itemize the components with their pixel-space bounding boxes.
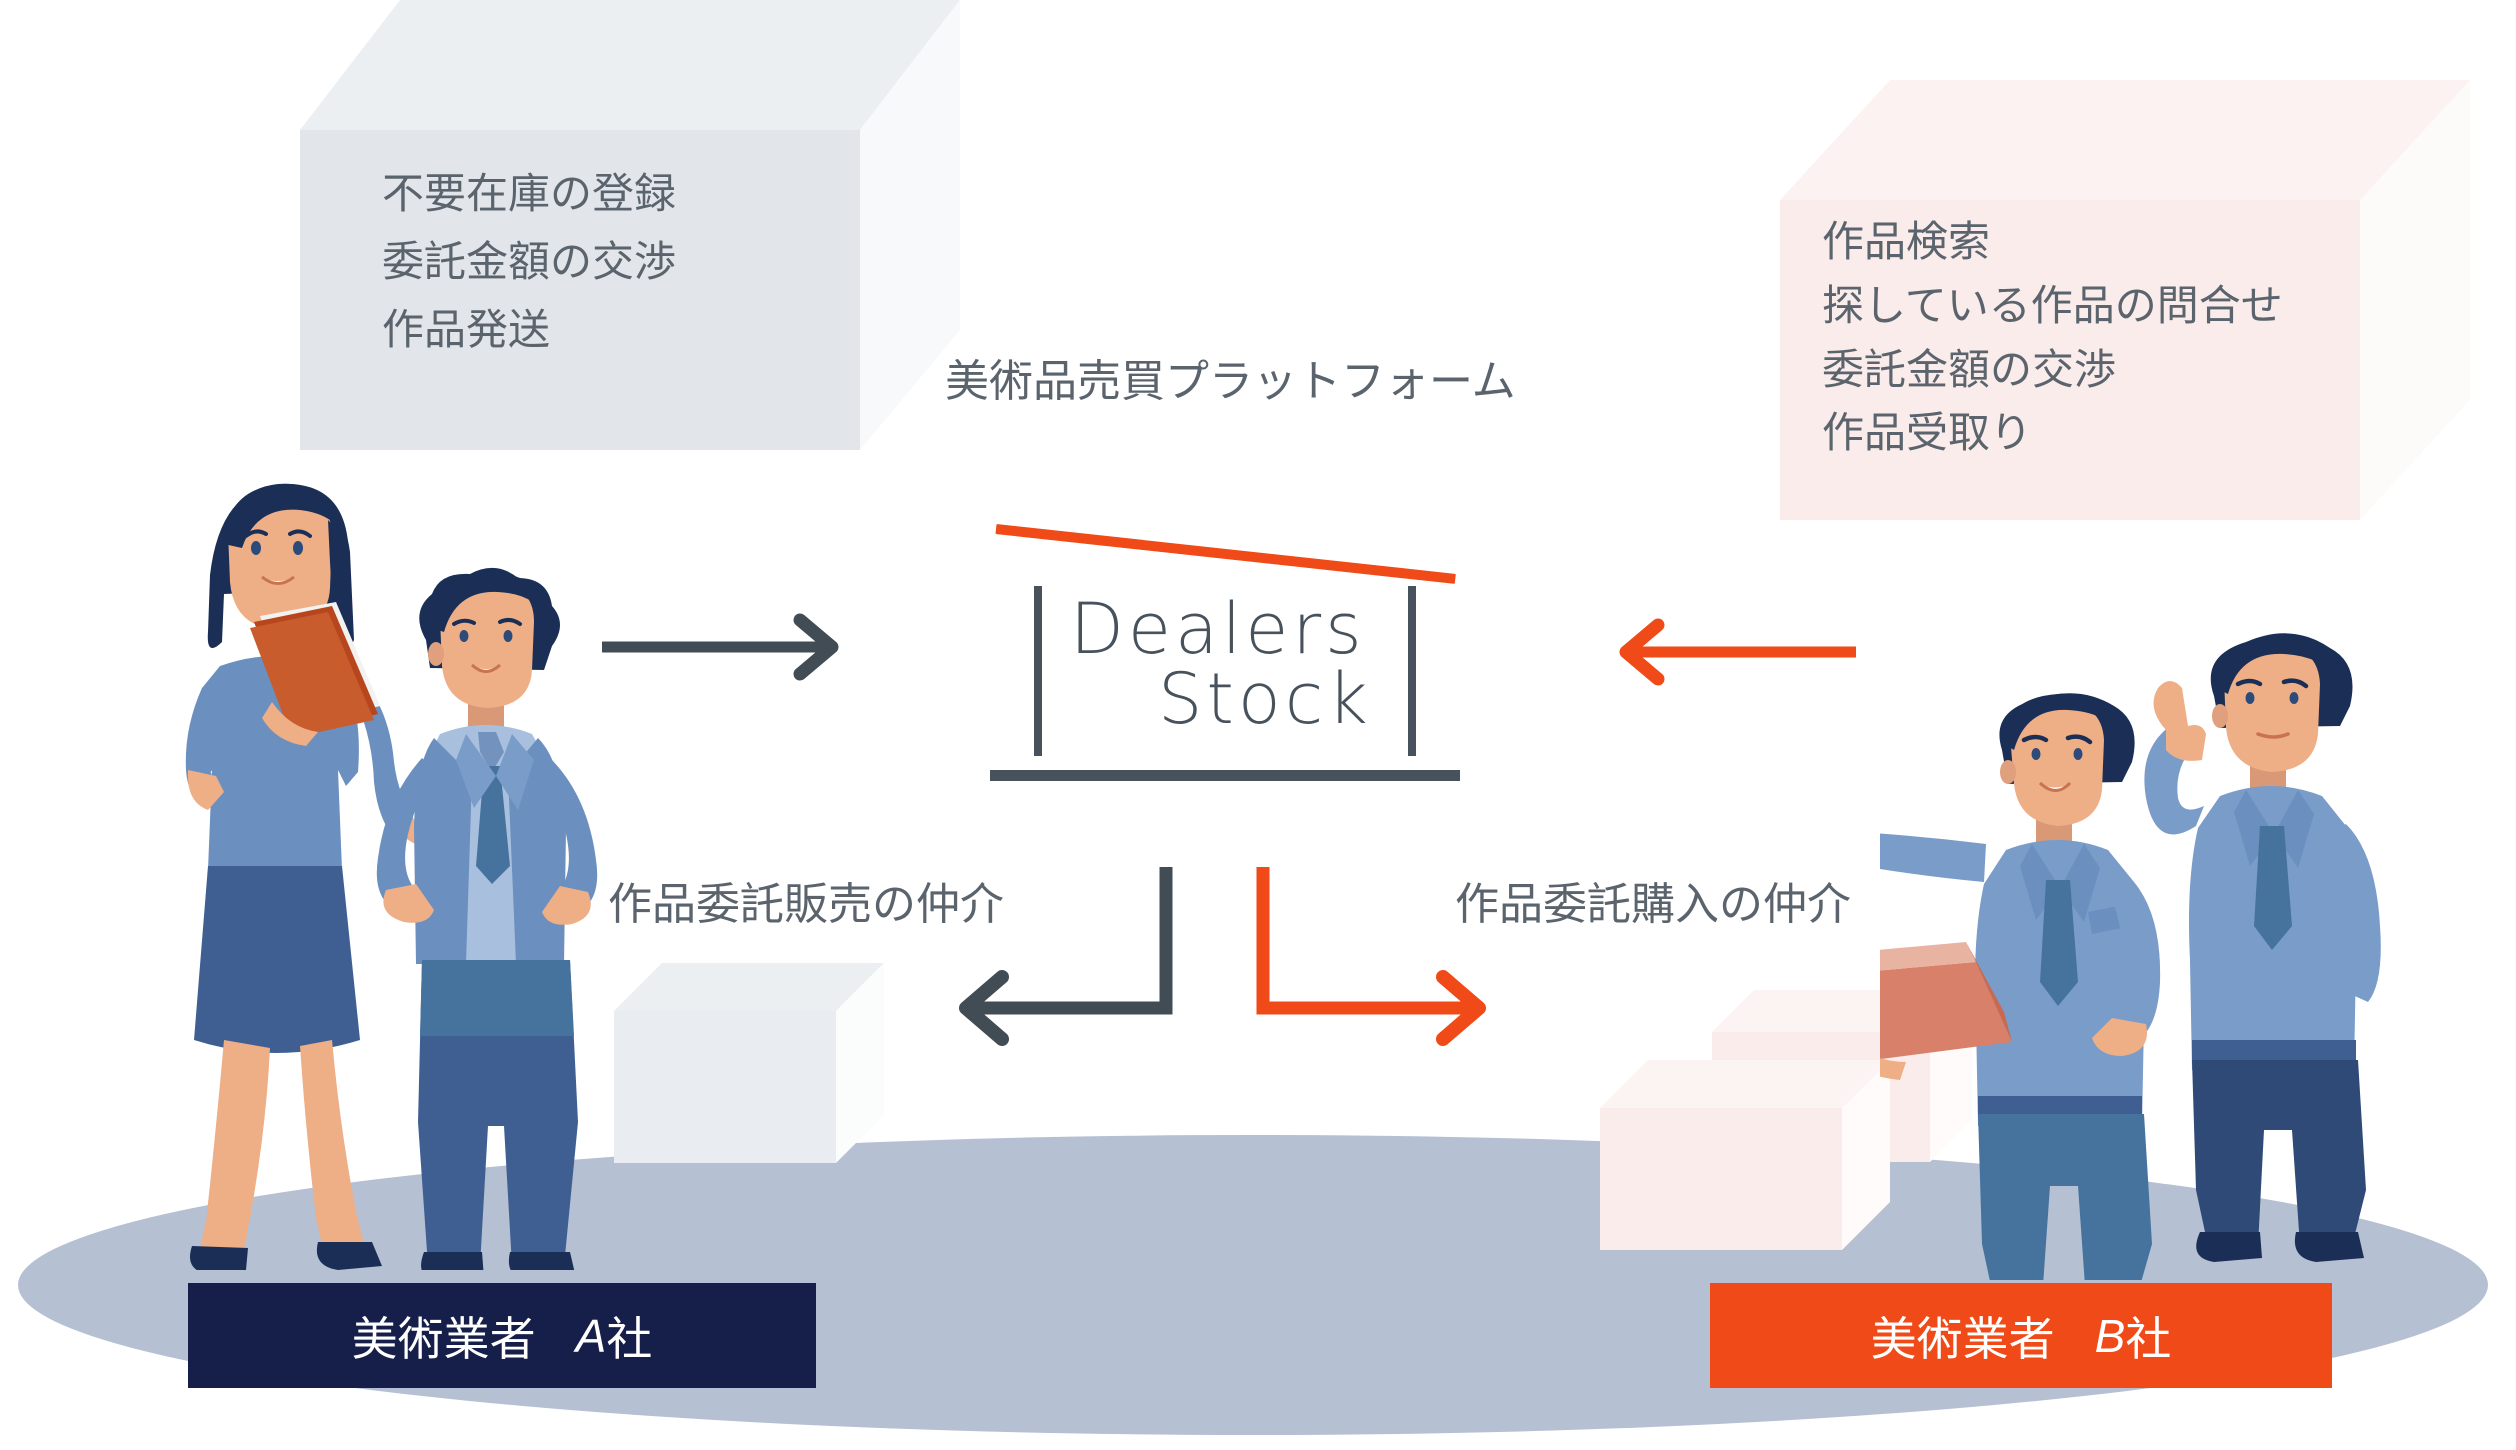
company-left-prefix: 美術業者	[352, 1303, 536, 1369]
company-left-suffix: 社	[606, 1303, 652, 1369]
logo-word-stock: Stock	[1158, 658, 1372, 740]
platform-caption: 美術品売買プラットフォーム	[945, 345, 1516, 409]
logo-right-bar	[1408, 586, 1416, 756]
seller-people-illustration	[150, 470, 690, 1270]
logo-accent-line	[995, 524, 1455, 584]
dealers-stock-logo: Dealers Stock	[990, 500, 1470, 790]
company-left-code: A	[576, 1309, 607, 1363]
company-right-suffix: 社	[2125, 1303, 2171, 1369]
arrow-buyer-to-platform	[1608, 617, 1858, 687]
buyer-task-list: 作品検索 探している作品の問合せ 委託金額の交渉 作品受取り	[1822, 210, 2462, 465]
buyer-people-illustration	[1880, 630, 2500, 1280]
flow-caption-buy: 作品委託購入の仲介	[1455, 868, 1851, 932]
company-bar-right[interactable]: 美術業者 B 社	[1710, 1283, 2332, 1388]
company-bar-left[interactable]: 美術業者 A 社	[188, 1283, 816, 1388]
company-right-code: B	[2095, 1309, 2126, 1363]
logo-underline	[990, 770, 1460, 781]
company-right-prefix: 美術業者	[1871, 1303, 2055, 1369]
logo-left-bar	[1034, 586, 1042, 756]
seller-task-list: 不要在庫の登録 委託金額の交渉 作品発送	[382, 160, 922, 364]
crate-center-right-front	[1600, 1060, 1890, 1260]
diagram-canvas: 不要在庫の登録 委託金額の交渉 作品発送 作品検索 探している作品の問合せ 委託…	[0, 0, 2516, 1450]
